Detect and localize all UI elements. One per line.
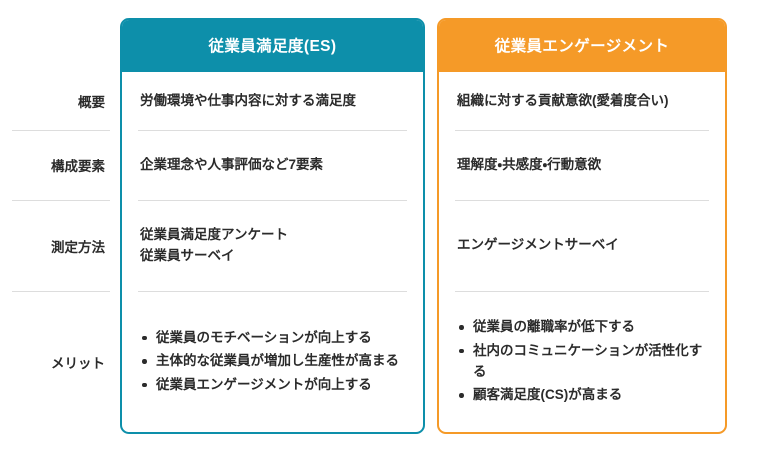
label-column-header-spacer — [0, 0, 120, 72]
card-employee-engagement: 従業員エンゲージメント 組織に対する貢献意欲(愛着度合い) 理解度・共感度・行動… — [437, 18, 727, 434]
list-item: 顧客満足度(CS)が高まる — [457, 385, 707, 406]
cell-es-measurement-text: 従業員満足度アンケート 従業員サーベイ — [122, 225, 423, 267]
cell-ee-merits-body: 従業員の離職率が低下する社内のコミュニケーションが活性化する顧客満足度(CS)が… — [439, 317, 725, 405]
label-divider — [12, 291, 110, 292]
row-label-merits-text: メリット — [51, 352, 105, 372]
cell-ee-measurement: エンゲージメントサーベイ — [439, 200, 725, 291]
cell-es-components-text: 企業理念や人事評価など7要素 — [122, 155, 423, 176]
row-divider — [455, 291, 709, 292]
cell-ee-components-text: 理解度・共感度・行動意欲 — [439, 155, 725, 176]
row-label-components: 構成要素 — [0, 130, 120, 200]
cell-es-components: 企業理念や人事評価など7要素 — [122, 130, 423, 200]
card-header-employee-engagement-text: 従業員エンゲージメント — [495, 34, 670, 56]
cell-ee-overview-text: 組織に対する貢献意欲(愛着度合い) — [439, 91, 725, 112]
list-item: 従業員エンゲージメントが向上する — [140, 375, 405, 396]
label-divider — [12, 200, 110, 201]
row-label-merits: メリット — [0, 291, 120, 432]
list-item: 社内のコミュニケーションが活性化する — [457, 341, 707, 382]
card-header-employee-satisfaction-text: 従業員満足度(ES) — [208, 34, 336, 56]
list-item: 従業員の離職率が低下する — [457, 317, 707, 338]
bullet-list-es-merits: 従業員のモチベーションが向上する主体的な従業員が増加し生産性が高まる従業員エンゲ… — [140, 328, 405, 396]
cell-ee-measurement-text: エンゲージメントサーベイ — [439, 235, 725, 256]
comparison-table: 概要 構成要素 測定方法 メリット 従業員満足度(ES) 労働環境や仕事内容に対… — [0, 0, 760, 470]
row-divider — [138, 200, 407, 201]
bullet-list-ee-merits: 従業員の離職率が低下する社内のコミュニケーションが活性化する顧客満足度(CS)が… — [457, 317, 707, 405]
row-label-overview: 概要 — [0, 72, 120, 130]
cell-es-measurement: 従業員満足度アンケート 従業員サーベイ — [122, 200, 423, 291]
cell-ee-components: 理解度・共感度・行動意欲 — [439, 130, 725, 200]
cell-ee-merits: 従業員の離職率が低下する社内のコミュニケーションが活性化する顧客満足度(CS)が… — [439, 291, 725, 432]
card-header-employee-engagement: 従業員エンゲージメント — [437, 18, 727, 72]
column-employee-satisfaction: 従業員満足度(ES) 労働環境や仕事内容に対する満足度 企業理念や人事評価など7… — [120, 18, 425, 434]
card-body-employee-engagement: 組織に対する貢献意欲(愛着度合い) 理解度・共感度・行動意欲 エンゲージメントサ… — [439, 72, 725, 432]
label-divider — [12, 130, 110, 131]
list-item: 従業員のモチベーションが向上する — [140, 328, 405, 349]
row-divider — [455, 200, 709, 201]
row-label-measurement: 測定方法 — [0, 200, 120, 291]
row-label-measurement-text: 測定方法 — [51, 236, 105, 256]
list-item: 主体的な従業員が増加し生産性が高まる — [140, 351, 405, 372]
cell-es-overview: 労働環境や仕事内容に対する満足度 — [122, 72, 423, 130]
row-label-overview-text: 概要 — [78, 91, 105, 111]
row-label-column: 概要 構成要素 測定方法 メリット — [0, 0, 120, 470]
cell-ee-overview: 組織に対する貢献意欲(愛着度合い) — [439, 72, 725, 130]
cell-es-merits-body: 従業員のモチベーションが向上する主体的な従業員が増加し生産性が高まる従業員エンゲ… — [122, 328, 423, 396]
row-label-components-text: 構成要素 — [51, 155, 105, 175]
row-divider — [138, 291, 407, 292]
cell-es-merits: 従業員のモチベーションが向上する主体的な従業員が増加し生産性が高まる従業員エンゲ… — [122, 291, 423, 432]
column-employee-engagement: 従業員エンゲージメント 組織に対する貢献意欲(愛着度合い) 理解度・共感度・行動… — [437, 18, 727, 434]
card-employee-satisfaction: 従業員満足度(ES) 労働環境や仕事内容に対する満足度 企業理念や人事評価など7… — [120, 18, 425, 434]
card-header-employee-satisfaction: 従業員満足度(ES) — [120, 18, 425, 72]
row-divider — [455, 130, 709, 131]
row-divider — [138, 130, 407, 131]
cell-es-overview-text: 労働環境や仕事内容に対する満足度 — [122, 91, 423, 112]
card-body-employee-satisfaction: 労働環境や仕事内容に対する満足度 企業理念や人事評価など7要素 従業員満足度アン… — [122, 72, 423, 432]
